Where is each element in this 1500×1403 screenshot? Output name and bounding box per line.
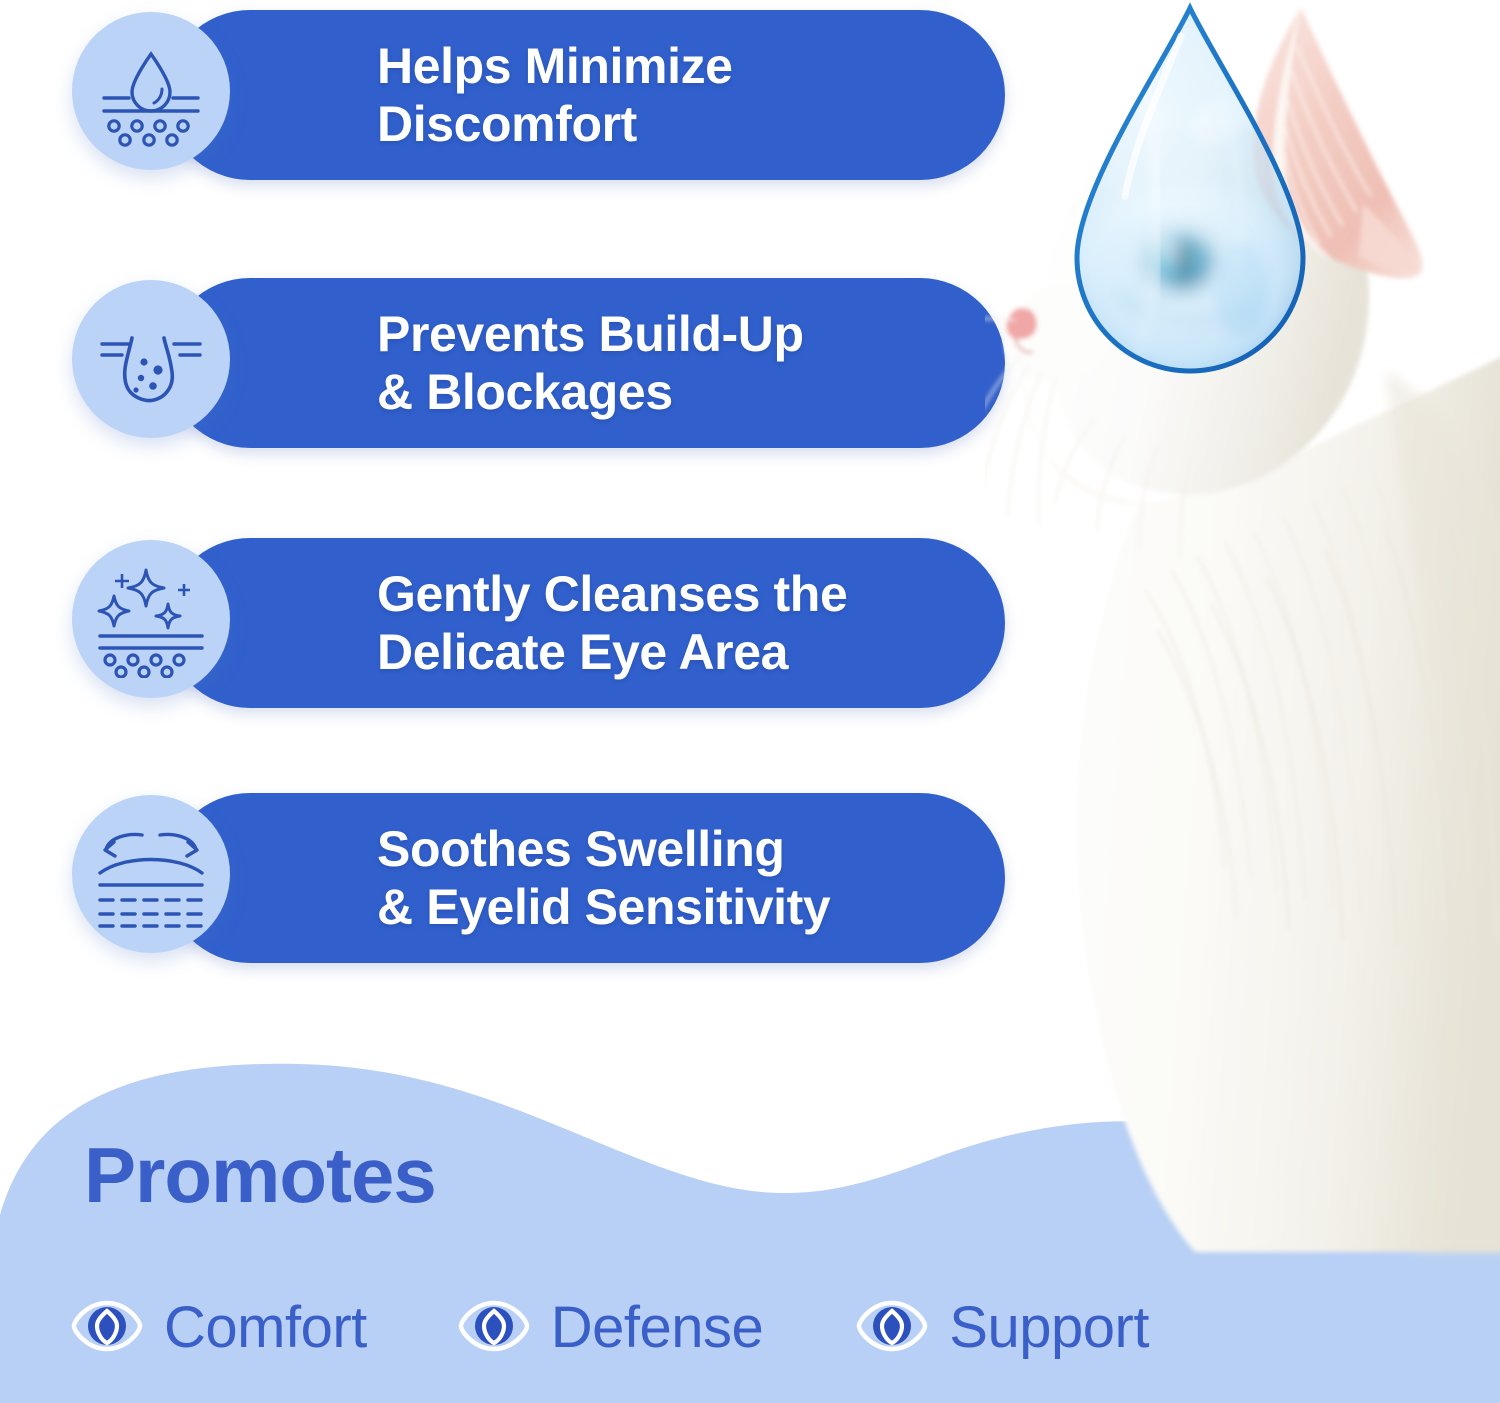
water-droplet-icon (1065, 0, 1315, 400)
promote-label-defense: Defense (551, 1299, 764, 1357)
benefit-pill-2[interactable]: Prevents Build-Up & Blockages (165, 278, 1005, 448)
droplet-on-skin-icon (72, 12, 230, 170)
cat-ear (1253, 8, 1423, 278)
eye-icon (457, 1289, 531, 1368)
eye-icon (70, 1289, 144, 1368)
promote-item-comfort[interactable]: Comfort (70, 1289, 367, 1368)
benefit-pill-3[interactable]: Gently Cleanses the Delicate Eye Area (165, 538, 1005, 708)
benefit-label-2: Prevents Build-Up & Blockages (377, 305, 804, 421)
swelling-reduction-icon (72, 795, 230, 953)
benefit-label-4: Soothes Swelling & Eyelid Sensitivity (377, 820, 830, 936)
benefit-label-3: Gently Cleanses the Delicate Eye Area (377, 565, 847, 681)
benefit-pill-4[interactable]: Soothes Swelling & Eyelid Sensitivity (165, 793, 1005, 963)
clogged-pore-icon (72, 280, 230, 438)
cat-eye (1133, 224, 1229, 294)
promote-item-support[interactable]: Support (855, 1289, 1149, 1368)
product-infographic: Helps Minimize Discomfort (0, 0, 1500, 1403)
promote-item-defense[interactable]: Defense (457, 1289, 764, 1368)
promote-label-comfort: Comfort (164, 1299, 367, 1357)
sparkles-clean-skin-icon (72, 540, 230, 698)
cat-head (985, 124, 1369, 558)
benefit-pill-1[interactable]: Helps Minimize Discomfort (165, 10, 1005, 180)
promotes-list: Comfort Defense Support (70, 1282, 1450, 1374)
eye-icon (855, 1289, 929, 1368)
promote-label-support: Support (949, 1299, 1149, 1357)
benefit-label-1: Helps Minimize Discomfort (377, 37, 733, 153)
promotes-heading: Promotes (84, 1136, 436, 1214)
